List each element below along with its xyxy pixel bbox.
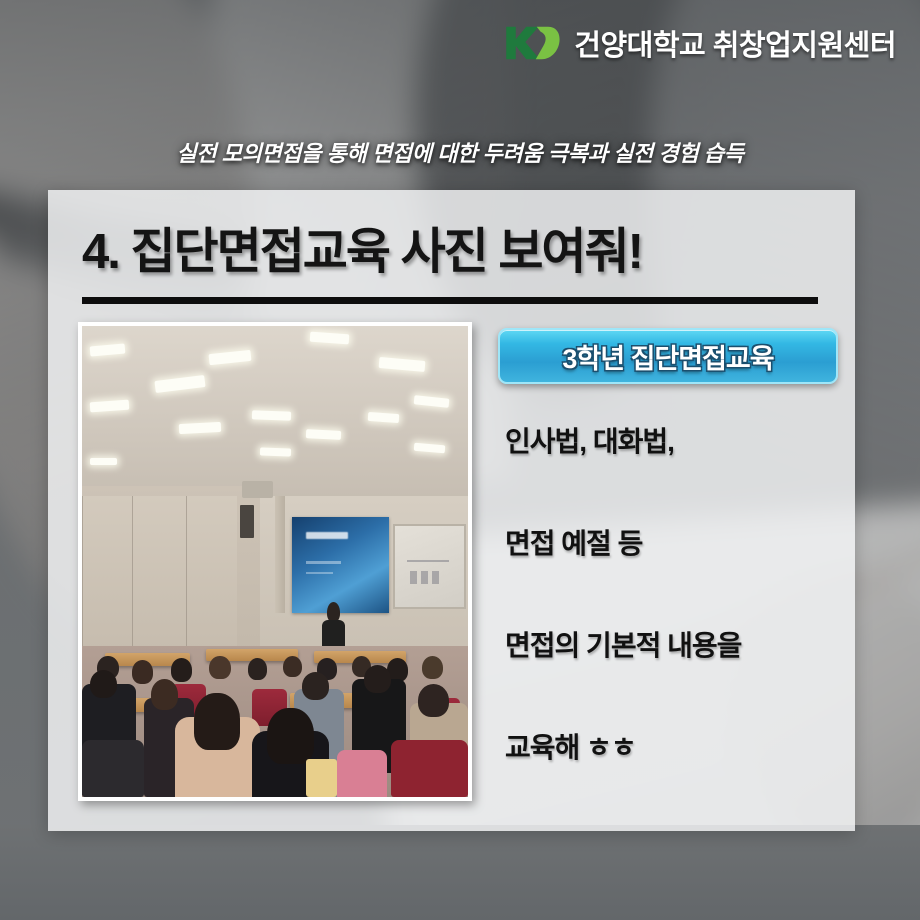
body-text-block: 인사법, 대화법, 면접 예절 등 면접의 기본적 내용을 교육해 ㅎㅎ bbox=[505, 420, 855, 766]
body-line: 교육해 ㅎㅎ bbox=[505, 726, 855, 766]
student-head bbox=[422, 656, 443, 680]
brand-name: 건양대학교 취창업지원센터 bbox=[574, 22, 896, 64]
background-bottom-band bbox=[0, 825, 920, 920]
student-head bbox=[418, 684, 449, 717]
wall-column bbox=[275, 496, 285, 614]
brand-lockup: 건양대학교 취창업지원센터 bbox=[502, 22, 896, 64]
ceiling-lamp bbox=[306, 429, 341, 440]
poster-subtitle: 실전 모의면접을 통해 면접에 대한 두려움 극복과 실전 경험 습득 bbox=[0, 136, 920, 168]
window-blind bbox=[132, 496, 187, 651]
student-head bbox=[248, 658, 267, 680]
whiteboard bbox=[393, 524, 466, 609]
wall-speaker bbox=[240, 505, 254, 538]
body-line: 면접 예절 등 bbox=[505, 522, 855, 562]
poster-canvas: 건양대학교 취창업지원센터 실전 모의면접을 통해 면접에 대한 두려움 극복과… bbox=[0, 0, 920, 920]
slide-subtext bbox=[306, 561, 341, 564]
ceiling-lamp bbox=[90, 458, 117, 466]
student-head bbox=[194, 693, 240, 750]
presenter-head bbox=[327, 602, 340, 623]
poster-header: 건양대학교 취창업지원센터 bbox=[0, 0, 920, 92]
status-badge-label: 3학년 집단면접교육 bbox=[562, 337, 773, 376]
student-head bbox=[302, 672, 329, 700]
lecture-chair-front bbox=[391, 740, 468, 797]
body-line: 면접의 기본적 내용을 bbox=[505, 624, 855, 664]
student-head bbox=[132, 660, 153, 684]
classroom-photo-frame bbox=[78, 322, 472, 801]
body-line: 인사법, 대화법, bbox=[505, 420, 855, 460]
desk-item bbox=[306, 759, 337, 797]
student-head bbox=[364, 665, 391, 693]
ky-logo-icon bbox=[502, 23, 560, 63]
student-head bbox=[151, 679, 178, 710]
student-head bbox=[171, 658, 192, 682]
student-head bbox=[283, 656, 302, 678]
window-blind bbox=[82, 496, 133, 651]
student-item bbox=[337, 750, 387, 797]
student-head bbox=[209, 656, 230, 680]
whiteboard-mark bbox=[421, 571, 428, 584]
student-head bbox=[267, 708, 313, 765]
title-underline bbox=[82, 297, 818, 304]
window-blind bbox=[186, 496, 237, 651]
ceiling-lamp bbox=[252, 410, 291, 421]
classroom-photo bbox=[82, 326, 468, 797]
whiteboard-mark bbox=[432, 571, 439, 584]
status-badge: 3학년 집단면접교육 bbox=[498, 328, 838, 384]
ceiling-lamp bbox=[178, 421, 221, 434]
whiteboard-mark bbox=[410, 571, 417, 584]
slide-subtext-2 bbox=[306, 572, 333, 574]
projection-screen bbox=[292, 517, 389, 614]
ceiling-projector bbox=[242, 481, 273, 498]
student-body bbox=[82, 740, 144, 797]
student-head bbox=[90, 670, 117, 698]
page-title: 4. 집단면접교육 사진 보여줘! bbox=[82, 212, 842, 283]
whiteboard-mark bbox=[407, 560, 449, 562]
